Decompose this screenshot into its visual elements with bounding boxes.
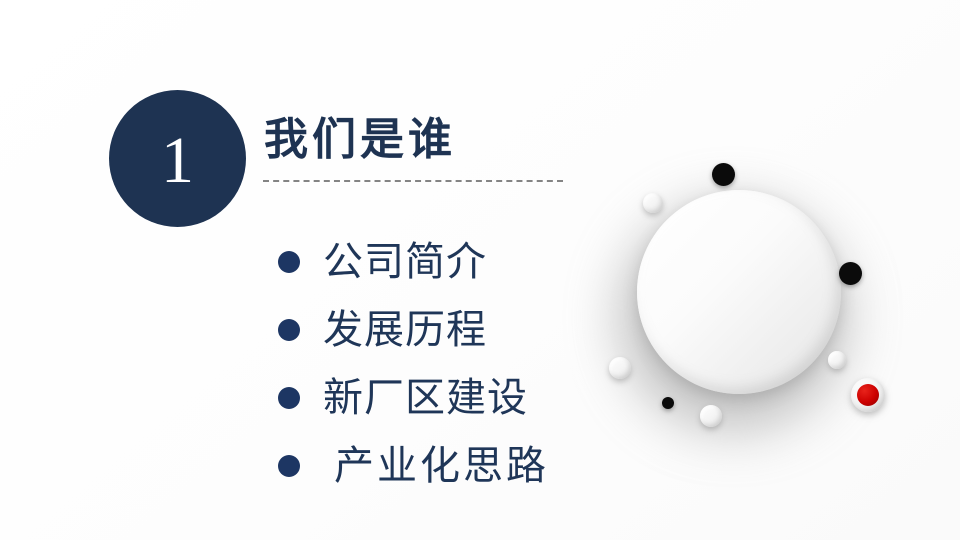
- slide-canvas: 1 我们是谁 公司简介 发展历程 新厂区建设 产业化思路: [0, 0, 960, 540]
- bullet-dot-icon: [278, 387, 300, 409]
- title-divider: [263, 180, 563, 182]
- node-white-upper-left: [643, 193, 663, 213]
- list-item-label: 产业化思路: [334, 446, 549, 486]
- node-red-accent: [851, 378, 885, 412]
- node-white-right: [828, 351, 846, 369]
- node-black-right: [839, 262, 862, 285]
- page-title: 我们是谁: [264, 116, 456, 164]
- red-core-icon: [857, 384, 879, 406]
- node-white-lower-left: [609, 357, 631, 379]
- list-item-label: 新厂区建设: [323, 378, 528, 418]
- list-item-label: 发展历程: [323, 310, 487, 350]
- main-disc: [637, 190, 841, 394]
- node-black-small-bottom: [662, 397, 674, 409]
- list-item[interactable]: 产业化思路: [278, 432, 618, 500]
- bullet-dot-icon: [278, 319, 300, 341]
- node-white-bottom: [700, 405, 722, 427]
- agenda-list: 公司简介 发展历程 新厂区建设 产业化思路: [278, 228, 618, 500]
- circle-cluster-graphic: [580, 140, 940, 470]
- node-black-top: [712, 163, 735, 186]
- section-number: 1: [161, 128, 194, 194]
- list-item[interactable]: 公司简介: [278, 228, 618, 296]
- list-item[interactable]: 发展历程: [278, 296, 618, 364]
- bullet-dot-icon: [278, 455, 300, 477]
- list-item-label: 公司简介: [323, 242, 487, 282]
- list-item[interactable]: 新厂区建设: [278, 364, 618, 432]
- section-number-badge: 1: [109, 90, 246, 227]
- bullet-dot-icon: [278, 251, 300, 273]
